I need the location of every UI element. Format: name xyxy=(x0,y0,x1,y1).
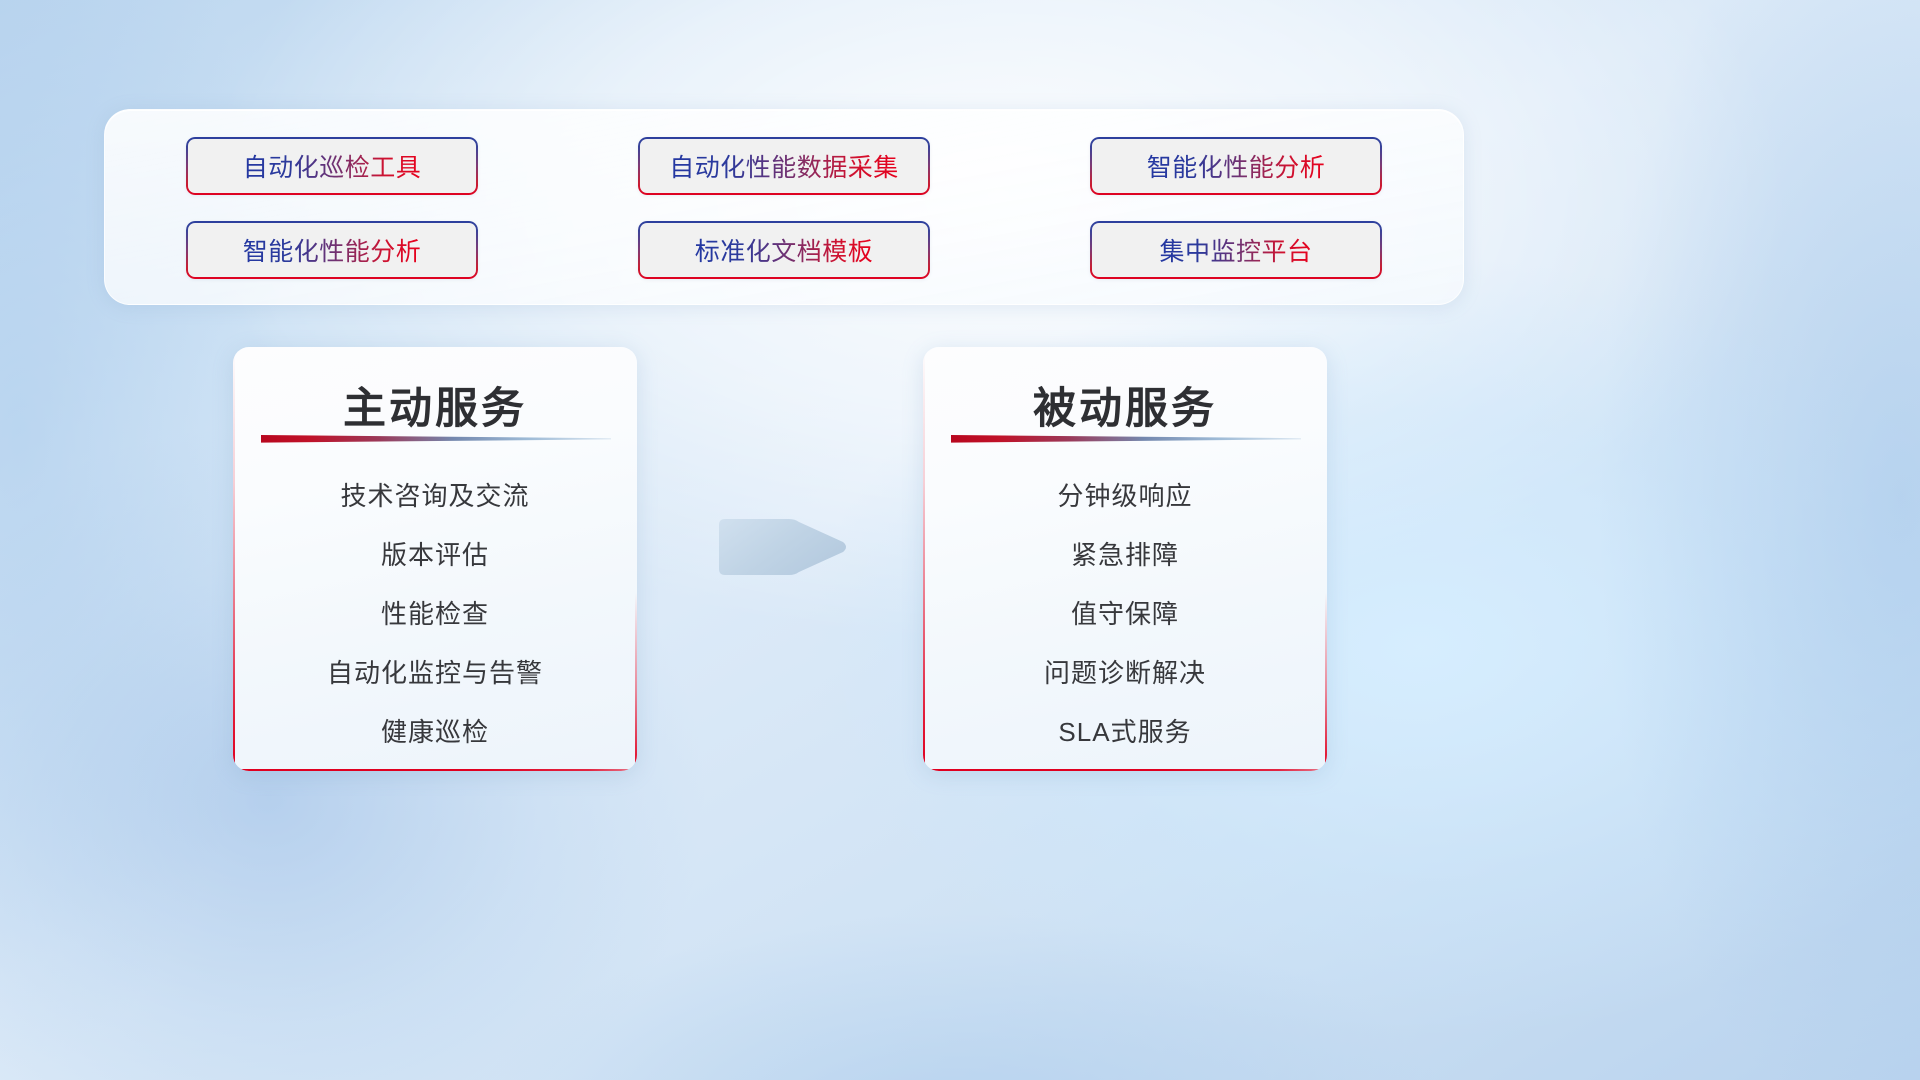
capability-pill-label: 智能化性能分析 xyxy=(1147,148,1326,184)
capability-pill[interactable]: 自动化性能数据采集 xyxy=(638,137,930,195)
capability-pill-label: 标准化文档模板 xyxy=(695,232,874,268)
capability-pill-label: 自动化性能数据采集 xyxy=(669,148,899,184)
capability-pill-grid: 自动化巡检工具 自动化性能数据采集 智能化性能分析 智能化性能分析 标准化文档模… xyxy=(105,110,1463,304)
capability-pill[interactable]: 标准化文档模板 xyxy=(638,221,930,279)
capability-panel: 自动化巡检工具 自动化性能数据采集 智能化性能分析 智能化性能分析 标准化文档模… xyxy=(104,109,1464,305)
capability-pill-label: 智能化性能分析 xyxy=(243,232,422,268)
card-title: 被动服务 xyxy=(923,374,1327,436)
list-item: 健康巡检 xyxy=(381,703,489,762)
service-card-proactive: 主动服务 技术咨询及交流 版本评估 性能检查 xyxy=(233,347,637,771)
card-item-list: 分钟级响应 紧急排障 值守保障 问题诊断解决 SLA式服务 xyxy=(923,467,1327,762)
card-divider xyxy=(261,433,611,445)
capability-pill[interactable]: 智能化性能分析 xyxy=(186,221,478,279)
card-accent-bottom-edge xyxy=(923,769,1327,771)
card-accent-bottom-edge xyxy=(233,769,637,771)
service-card-reactive: 被动服务 分钟级响应 紧急排障 值守保障 xyxy=(923,347,1327,771)
list-item: 分钟级响应 xyxy=(1057,467,1192,526)
list-item: 自动化监控与告警 xyxy=(327,644,543,703)
card-divider xyxy=(951,433,1301,445)
list-item: 性能检查 xyxy=(381,585,489,644)
list-item: 版本评估 xyxy=(381,526,489,585)
list-item: SLA式服务 xyxy=(1058,703,1191,762)
capability-pill[interactable]: 集中监控平台 xyxy=(1090,221,1382,279)
list-item: 紧急排障 xyxy=(1071,526,1179,585)
list-item: 问题诊断解决 xyxy=(1044,644,1206,703)
arrow-right-icon xyxy=(713,497,853,597)
card-item-list: 技术咨询及交流 版本评估 性能检查 自动化监控与告警 健康巡检 xyxy=(233,467,637,762)
slide-canvas: 自动化巡检工具 自动化性能数据采集 智能化性能分析 智能化性能分析 标准化文档模… xyxy=(0,0,1920,1080)
card-title: 主动服务 xyxy=(233,374,637,436)
capability-pill[interactable]: 智能化性能分析 xyxy=(1090,137,1382,195)
capability-pill-label: 集中监控平台 xyxy=(1159,232,1312,268)
list-item: 技术咨询及交流 xyxy=(340,467,529,526)
list-item: 值守保障 xyxy=(1071,585,1179,644)
capability-pill-label: 自动化巡检工具 xyxy=(243,148,422,184)
capability-pill[interactable]: 自动化巡检工具 xyxy=(186,137,478,195)
